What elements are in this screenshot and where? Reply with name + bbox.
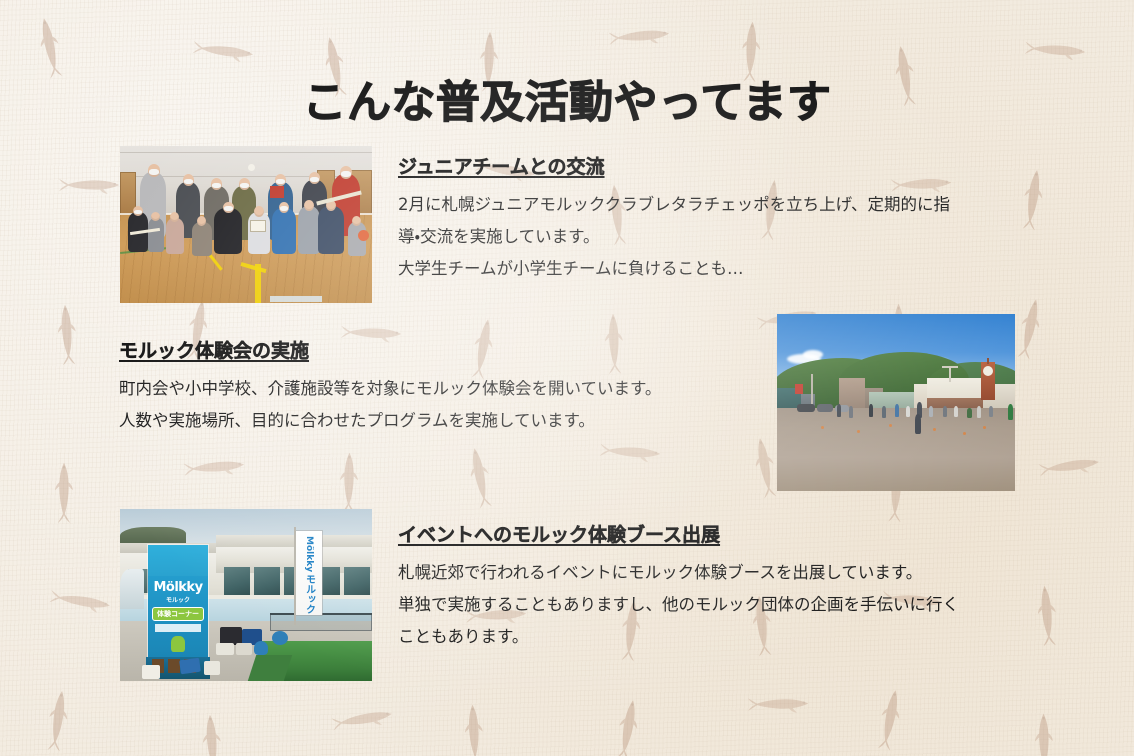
junior-team-heading: ジュニアチームとの交流 [398, 156, 950, 180]
molkky-trial-heading: モルック体験会の実施 [119, 340, 661, 364]
event-booth-heading: イベントへのモルック体験ブース出展 [398, 524, 959, 548]
fish-icon [183, 453, 247, 480]
fish-icon [192, 36, 256, 65]
fish-icon [1013, 295, 1047, 360]
event-booth-line-3: こともあります。 [398, 621, 959, 653]
fish-icon [612, 697, 644, 756]
fish-icon [1024, 37, 1087, 63]
gymnasium-group-photo [120, 146, 372, 303]
page-root: こんな普及活動やってます [0, 0, 1134, 756]
banner-subtitle: モルック [166, 595, 190, 604]
fish-icon [33, 14, 67, 79]
junior-team-line-3: 大学生チームが小学生チームに負けることも… [398, 253, 950, 285]
fish-icon [337, 451, 360, 513]
banner-title: Mölkky [153, 580, 202, 595]
junior-team-copy: ジュニアチームとの交流 2月に札幌ジュニアモルッククラブレタラチェッポを立ち上げ… [398, 156, 950, 285]
fish-icon [54, 302, 80, 365]
fish-icon [463, 444, 496, 509]
molkky-banner: Mölkky モルック 体験コーナー [148, 545, 208, 657]
fish-icon [748, 692, 810, 715]
fish-icon [1038, 451, 1102, 481]
junior-team-line-1: 2月に札幌ジュニアモルッククラブレタラチェッポを立ち上げ、定期的に指 [398, 189, 950, 221]
fish-icon [53, 461, 75, 523]
fish-icon [1018, 167, 1048, 231]
fish-icon [49, 585, 114, 616]
fish-icon [461, 702, 486, 756]
fish-icon [199, 712, 225, 756]
fish-icon [331, 703, 396, 735]
schoolyard-trial-photo [777, 314, 1015, 491]
fish-icon [873, 686, 906, 751]
junior-team-line-2: 導・交流を実施しています。 [398, 221, 950, 253]
fish-icon [43, 688, 73, 752]
molkky-booth-photo: Mölkky モルック 体験コーナー Mölkky モルック [120, 509, 372, 681]
molkky-trial-line-2: 人数や実施場所、目的に合わせたプログラムを実施しています。 [119, 405, 661, 437]
fish-icon [738, 19, 763, 82]
ground [777, 408, 1015, 491]
banner-pill: 体験コーナー [152, 607, 204, 621]
fish-icon [1033, 583, 1060, 647]
molkky-trial-line-1: 町内会や小中学校、介護施設等を対象にモルック体験会を開いています。 [119, 373, 661, 405]
fish-icon [608, 22, 672, 49]
page-title: こんな普及活動やってます [0, 77, 1134, 128]
molkky-flag: Mölkky モルック [296, 531, 322, 615]
flag-bottom-text: モルック [302, 574, 317, 614]
fish-icon [599, 439, 662, 465]
fish-icon [1032, 712, 1055, 756]
molkky-trial-copy: モルック体験会の実施 町内会や小中学校、介護施設等を対象にモルック体験会を開いて… [119, 340, 661, 437]
event-booth-copy: イベントへのモルック体験ブース出展 札幌近郊で行われるイベントにモルック体験ブー… [398, 524, 959, 653]
event-booth-line-1: 札幌近郊で行われるイベントにモルック体験ブースを出展しています。 [398, 557, 959, 589]
fish-icon [59, 174, 121, 196]
event-booth-line-2: 単独で実施することもありますし、他のモルック団体の企画を手伝いに行く [398, 589, 959, 621]
flag-top-text: Mölkky [304, 536, 314, 572]
